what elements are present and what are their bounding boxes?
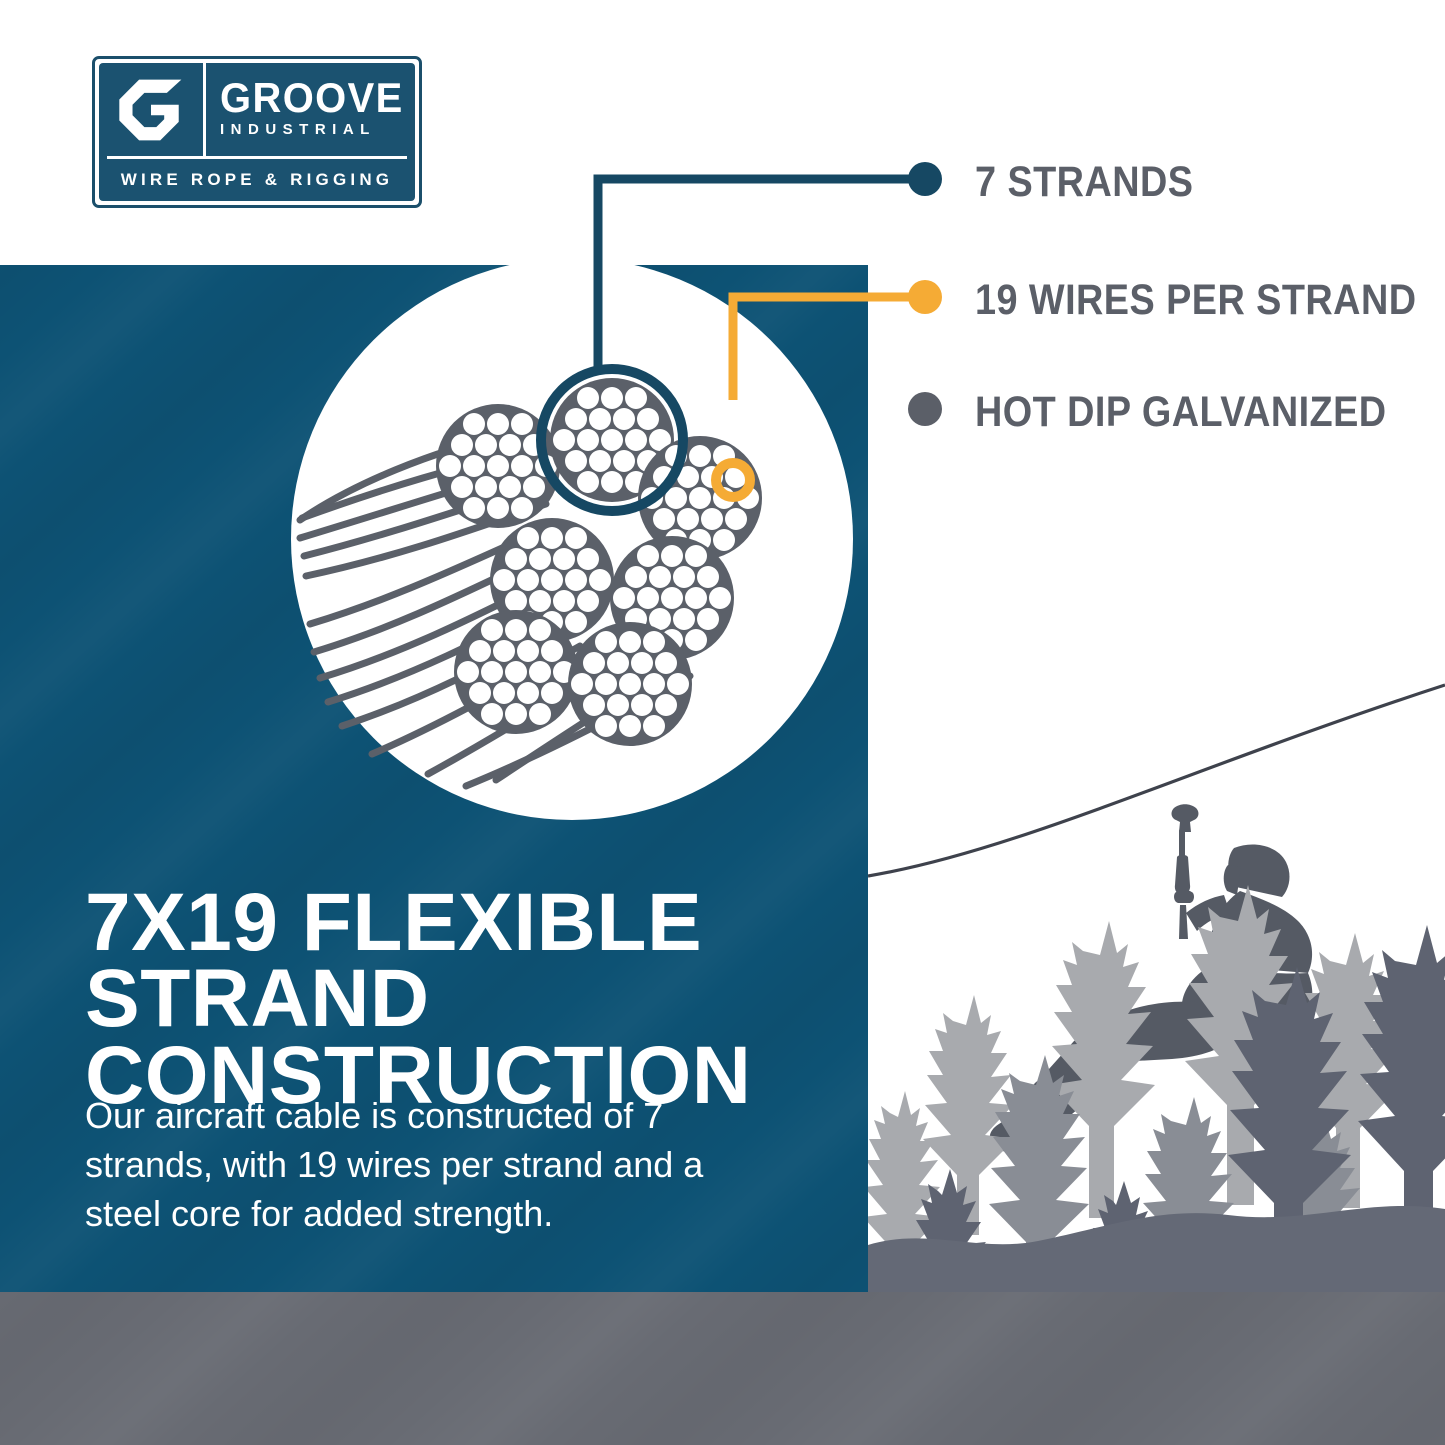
- g-monogram-svg: [118, 78, 184, 142]
- callout-label-2: 19 WIRES PER STRAND: [975, 279, 1416, 322]
- groove-g-monogram-icon: [99, 63, 206, 156]
- callout-label-1: 7 STRANDS: [975, 161, 1193, 204]
- body-description: Our aircraft cable is constructed of 7 s…: [85, 1092, 745, 1239]
- wire-rope-cross-section-illustration: [280, 280, 840, 800]
- callout-hot-dip-galvanized: HOT DIP GALVANIZED: [908, 391, 1443, 434]
- strand-bundles: [436, 378, 762, 746]
- brand-subtitle: INDUSTRIAL: [220, 119, 413, 142]
- callout-7-strands: 7 STRANDS: [908, 161, 1223, 204]
- logo-inner-plate: GROOVE INDUSTRIAL WIRE ROPE & RIGGING: [99, 63, 415, 201]
- logo-top-row: GROOVE INDUSTRIAL: [99, 63, 415, 156]
- logo-wordmark: GROOVE INDUSTRIAL: [206, 78, 421, 142]
- page-title: 7X19 FLEXIBLE STRAND CONSTRUCTION: [85, 885, 845, 1114]
- bottom-grey-band: [0, 1292, 1445, 1445]
- brand-name: GROOVE: [220, 78, 404, 117]
- infographic-canvas: 7 STRANDS 19 WIRES PER STRAND HOT DIP GA…: [0, 0, 1445, 1445]
- callout-label-3: HOT DIP GALVANIZED: [975, 391, 1387, 434]
- brand-tagline: WIRE ROPE & RIGGING: [99, 159, 415, 201]
- headline-line-2: STRAND CONSTRUCTION: [85, 961, 845, 1114]
- callout-19-wires-per-strand: 19 WIRES PER STRAND: [908, 279, 1445, 322]
- zipline-cable-icon: [868, 685, 1445, 876]
- cable-svg: [280, 280, 840, 800]
- band-wave-texture: [0, 1292, 1445, 1445]
- brand-logo[interactable]: GROOVE INDUSTRIAL WIRE ROPE & RIGGING: [92, 56, 422, 208]
